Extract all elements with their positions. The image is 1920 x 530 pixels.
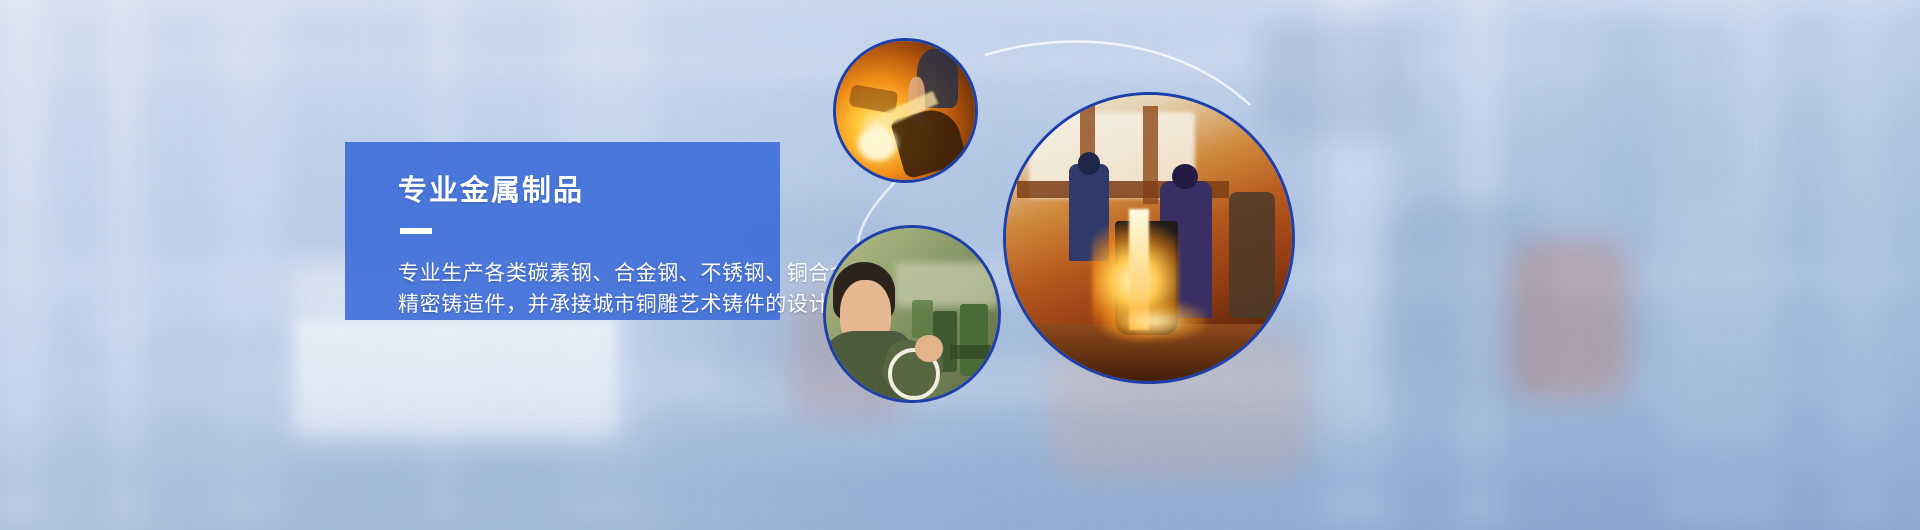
foundry-photo-image xyxy=(1006,95,1292,381)
hero-banner: 专业金属制品 专业生产各类碳素钢、合金钢、不锈钢、铜合金等 精密铸造件，并承接城… xyxy=(0,0,1920,530)
photo-circle-machining xyxy=(823,225,1001,403)
title-divider-rule xyxy=(400,228,432,234)
machining-photo-image xyxy=(826,228,998,400)
welding-photo-image xyxy=(836,41,975,180)
photo-circle-foundry xyxy=(1003,92,1295,384)
photo-circle-welding xyxy=(833,38,978,183)
page-title: 专业金属制品 xyxy=(398,176,1018,208)
